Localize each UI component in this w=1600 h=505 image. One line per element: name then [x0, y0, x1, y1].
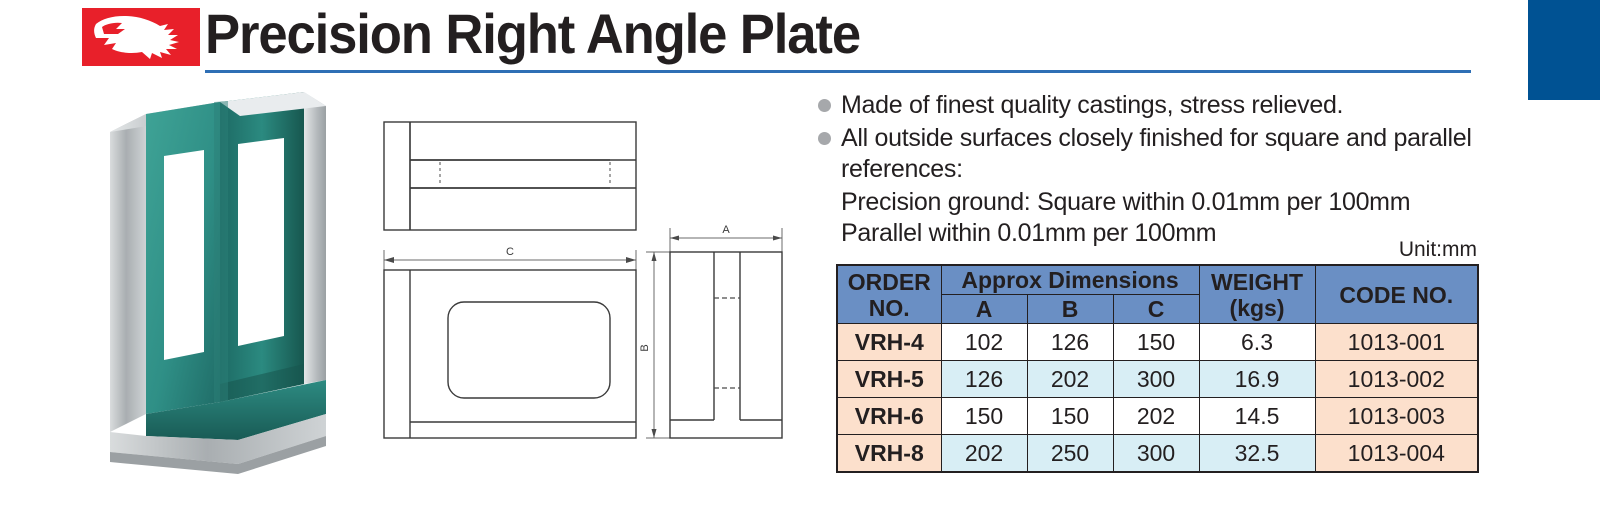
page-title: Precision Right Angle Plate [205, 2, 860, 66]
cell-dim-a: 150 [941, 398, 1027, 435]
cell-weight: 14.5 [1199, 398, 1315, 435]
dimension-label-a: A [722, 224, 730, 236]
header-weight-line2: (kgs) [1200, 295, 1315, 321]
cell-dim-a: 126 [941, 361, 1027, 398]
cell-dim-b: 126 [1027, 324, 1113, 361]
cell-code-no: 1013-001 [1315, 324, 1478, 361]
title-underline [205, 70, 1471, 73]
header-code-no: CODE NO. [1315, 265, 1478, 324]
cell-dim-a: 102 [941, 324, 1027, 361]
cell-dim-c: 150 [1113, 324, 1199, 361]
header-weight: WEIGHT (kgs) [1199, 265, 1315, 324]
table-row: VRH-6 150 150 202 14.5 1013-003 [837, 398, 1478, 435]
bullet-icon [818, 99, 831, 112]
header-dim-c: C [1113, 295, 1199, 324]
table-row: VRH-8 202 250 300 32.5 1013-004 [837, 435, 1478, 473]
header-approx-dimensions: Approx Dimensions [941, 265, 1199, 295]
table-header-row: ORDER NO. Approx Dimensions WEIGHT (kgs)… [837, 265, 1478, 295]
feature-list: Made of finest quality castings, stress … [818, 90, 1498, 249]
bullet-icon [818, 132, 831, 145]
cell-dim-c: 300 [1113, 435, 1199, 473]
feature-text: Made of finest quality castings, stress … [841, 90, 1343, 121]
header-dim-a: A [941, 295, 1027, 324]
unit-label: Unit:mm [836, 238, 1477, 262]
cell-dim-c: 300 [1113, 361, 1199, 398]
header-dim-b: B [1027, 295, 1113, 324]
cell-code-no: 1013-003 [1315, 398, 1478, 435]
technical-drawings: C A B [370, 110, 830, 455]
feature-item: All outside surfaces closely finished fo… [818, 123, 1498, 185]
feature-item: Made of finest quality castings, stress … [818, 90, 1498, 121]
cell-dim-a: 202 [941, 435, 1027, 473]
cell-order-no: VRH-6 [837, 398, 941, 435]
eagle-head-logo-icon [82, 8, 200, 66]
table-body: VRH-4 102 126 150 6.3 1013-001 VRH-5 126… [837, 324, 1478, 473]
cell-weight: 6.3 [1199, 324, 1315, 361]
specification-table: ORDER NO. Approx Dimensions WEIGHT (kgs)… [836, 264, 1479, 473]
cell-dim-b: 150 [1027, 398, 1113, 435]
feature-text: All outside surfaces closely finished fo… [841, 123, 1498, 185]
cell-order-no: VRH-5 [837, 361, 941, 398]
brand-logo [82, 8, 200, 66]
corner-color-block [1528, 0, 1600, 100]
cell-order-no: VRH-4 [837, 324, 941, 361]
cell-dim-c: 202 [1113, 398, 1199, 435]
cell-weight: 16.9 [1199, 361, 1315, 398]
cell-weight: 32.5 [1199, 435, 1315, 473]
table-row: VRH-5 126 202 300 16.9 1013-002 [837, 361, 1478, 398]
header-weight-line1: WEIGHT [1200, 269, 1315, 295]
dimension-label-c: C [506, 246, 514, 258]
cell-dim-b: 250 [1027, 435, 1113, 473]
cell-code-no: 1013-004 [1315, 435, 1478, 473]
product-photo [88, 84, 368, 474]
cell-dim-b: 202 [1027, 361, 1113, 398]
header-order-no: ORDER NO. [837, 265, 941, 324]
cell-order-no: VRH-8 [837, 435, 941, 473]
feature-detail: Precision ground: Square within 0.01mm p… [841, 187, 1498, 218]
table-row: VRH-4 102 126 150 6.3 1013-001 [837, 324, 1478, 361]
dimension-label-b: B [639, 344, 651, 351]
cell-code-no: 1013-002 [1315, 361, 1478, 398]
